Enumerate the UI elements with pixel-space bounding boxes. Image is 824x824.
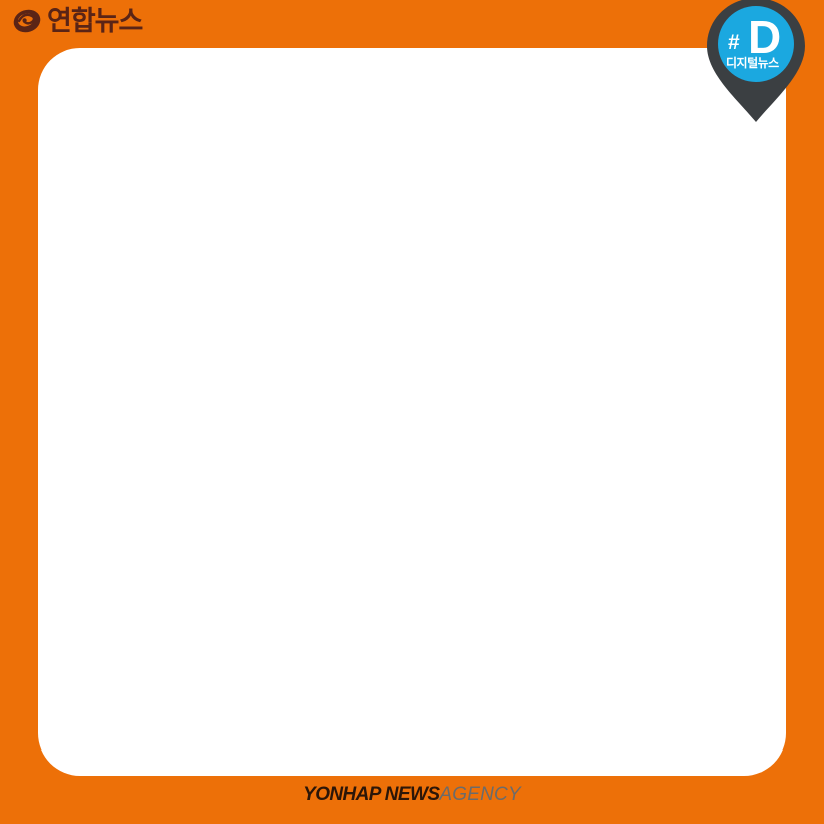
badge-hash: # [728, 32, 740, 53]
yonhap-logo-text: 연합뉴스 [47, 6, 142, 36]
news-card-canvas: 연합뉴스 # D 디지털뉴스 '책 읽는 서울광장'은 [0, 0, 824, 824]
badge-subtitle: 디지털뉴스 [726, 54, 779, 71]
yonhap-logo[interactable]: 연합뉴스 [12, 6, 142, 36]
yonhap-wordmark: YONHAP NEWSAGENCY [0, 784, 824, 806]
yonhap-swirl-icon [12, 6, 42, 36]
content-card [38, 48, 786, 775]
digital-news-badge[interactable]: # D 디지털뉴스 [704, 0, 808, 124]
wordmark-bold: YONHAP NEWS [303, 784, 439, 805]
wordmark-light: AGENCY [439, 784, 520, 805]
